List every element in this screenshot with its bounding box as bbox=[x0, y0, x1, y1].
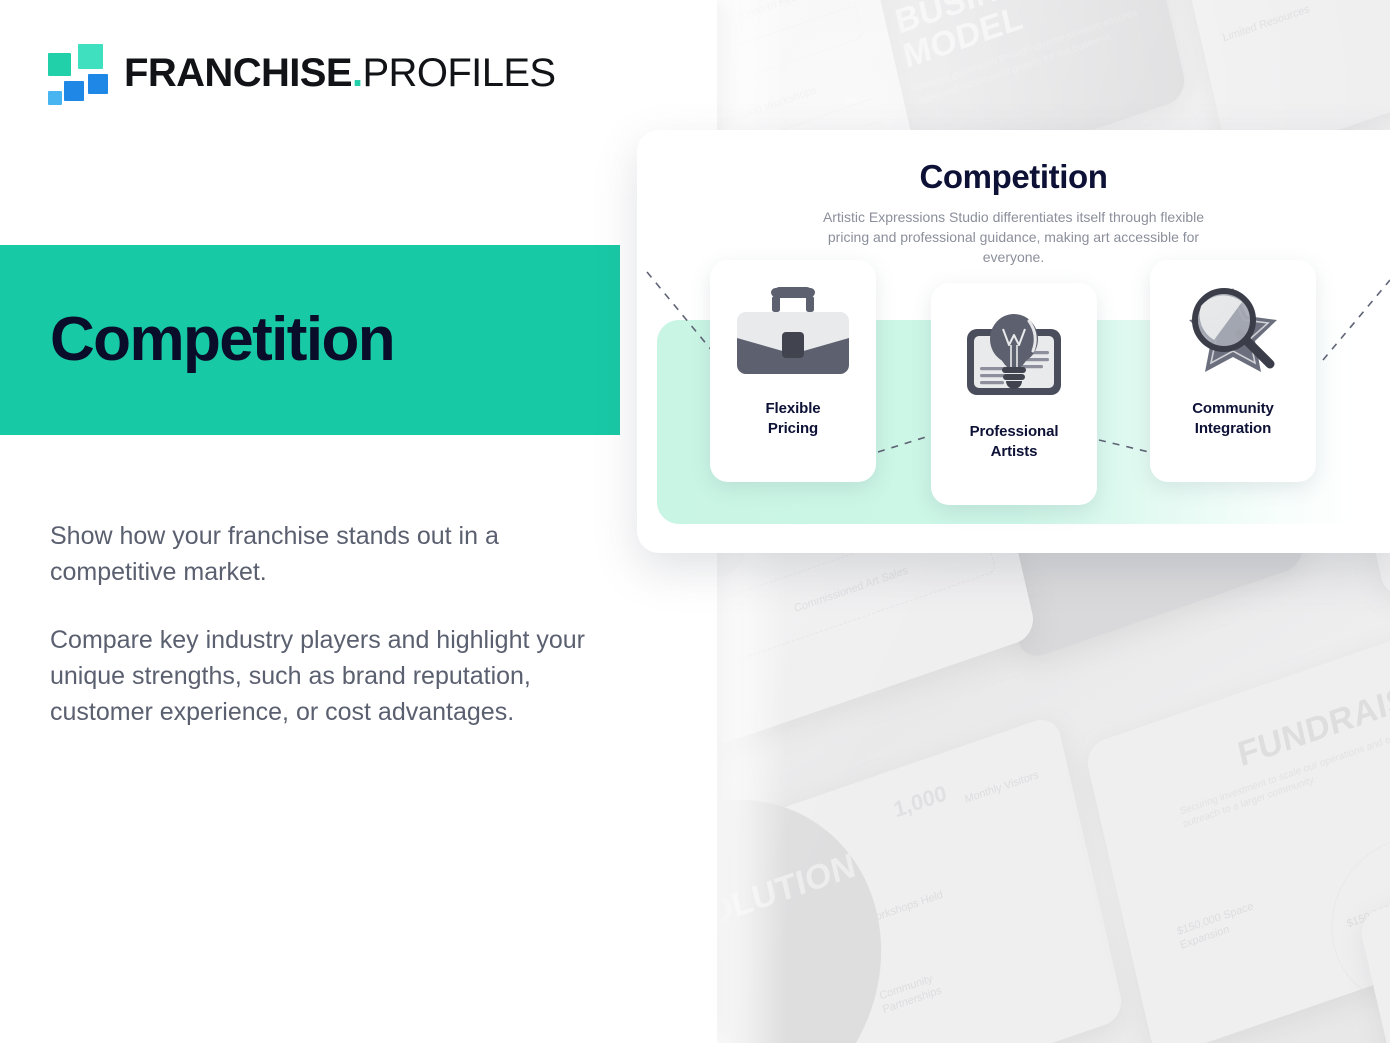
feature-card-community-integration[interactable]: Community Integration bbox=[1150, 260, 1316, 482]
briefcase-icon bbox=[734, 282, 852, 389]
paragraph-2: Compare key industry players and highlig… bbox=[50, 622, 620, 730]
logo-mark-icon bbox=[48, 44, 110, 102]
connector-dash-1-2 bbox=[878, 436, 929, 452]
logo-word-thin: PROFILES bbox=[362, 53, 555, 93]
watermark-stat-label: Monthly Visitors bbox=[964, 769, 1040, 808]
watermark-stat-label: Community Partnerships bbox=[878, 955, 988, 1018]
description-text: Show how your franchise stands out in a … bbox=[50, 518, 620, 730]
connector-dash-right bbox=[1323, 280, 1390, 360]
paragraph-1: Show how your franchise stands out in a … bbox=[50, 518, 620, 590]
watermark-stat-value: 1,000 bbox=[891, 780, 949, 823]
slide-canvas: BUSINESS MODEL Revenue generation throug… bbox=[0, 0, 1390, 1043]
lightbulb-card-icon bbox=[955, 305, 1073, 412]
page-title: Competition bbox=[50, 309, 394, 371]
logo-word-dot: . bbox=[352, 53, 363, 93]
connector-dash-2-3 bbox=[1099, 440, 1149, 452]
feature-card-label: Flexible Pricing bbox=[765, 399, 820, 440]
slide-preview-card[interactable]: Competition Artistic Expressions Studio … bbox=[637, 130, 1390, 553]
logo-wordmark: FRANCHISE.PROFILES bbox=[124, 53, 556, 93]
section-title-banner: Competition bbox=[0, 245, 620, 435]
feature-card-professional-artists[interactable]: Professional Artists bbox=[931, 283, 1097, 505]
logo-word-bold: FRANCHISE bbox=[124, 53, 352, 93]
connector-dash-left bbox=[647, 272, 713, 352]
magnifier-star-icon bbox=[1174, 282, 1292, 389]
watermark-slide-fundraising: FUNDRAISING Securing investment to scale… bbox=[1083, 610, 1390, 1043]
feature-card-label: Professional Artists bbox=[970, 422, 1059, 463]
watermark-item-label: $150,000 Space Expansion bbox=[1176, 884, 1305, 953]
watermark-item-label: Limited Resources bbox=[1222, 0, 1329, 46]
feature-card-flexible-pricing[interactable]: Flexible Pricing bbox=[710, 260, 876, 482]
feature-card-label: Community Integration bbox=[1192, 399, 1274, 440]
left-panel: FRANCHISE.PROFILES Competition Show how … bbox=[0, 0, 717, 1043]
franchise-profiles-logo[interactable]: FRANCHISE.PROFILES bbox=[48, 44, 556, 102]
